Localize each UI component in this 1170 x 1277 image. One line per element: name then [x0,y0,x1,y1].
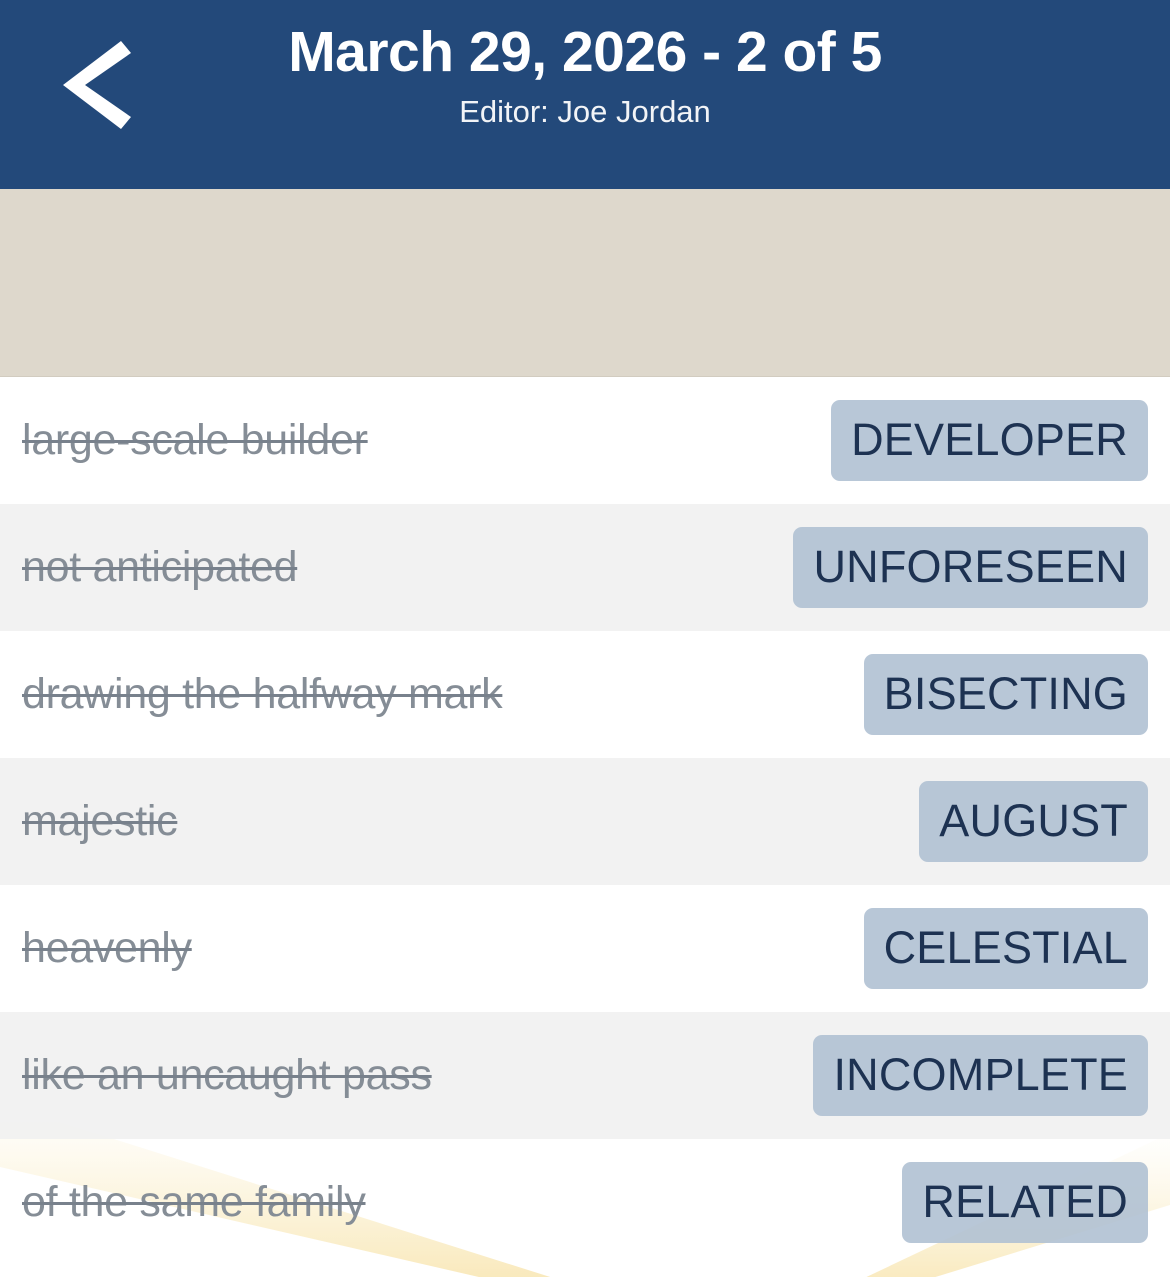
clue-row[interactable]: heavenly CELESTIAL [0,885,1170,1012]
clue-row[interactable]: majestic AUGUST [0,758,1170,885]
page-title: March 29, 2026 - 2 of 5 [288,22,882,84]
editor-byline: Editor: Joe Jordan [459,94,711,130]
app-root: March 29, 2026 - 2 of 5 Editor: Joe Jord… [0,0,1170,1277]
clue-text: majestic [22,797,177,846]
chevron-left-icon [59,37,131,133]
clue-row[interactable]: not anticipated UNFORESEEN [0,504,1170,631]
answer-chip[interactable]: UNFORESEEN [793,527,1148,608]
answer-chip[interactable]: BISECTING [864,654,1148,735]
clue-row[interactable]: of the same family RELATED [0,1139,1170,1266]
clue-row[interactable]: large-scale builder DEVELOPER [0,377,1170,504]
clue-text: not anticipated [22,543,297,592]
clue-text: drawing the halfway mark [22,670,502,719]
back-button[interactable] [40,30,150,140]
answer-chip[interactable]: CELESTIAL [864,908,1148,989]
clue-text: of the same family [22,1178,366,1227]
ad-banner[interactable] [0,189,1170,377]
answer-chip[interactable]: INCOMPLETE [813,1035,1148,1116]
clue-text: heavenly [22,924,192,973]
clue-row[interactable]: drawing the halfway mark BISECTING [0,631,1170,758]
answer-chip[interactable]: DEVELOPER [831,400,1148,481]
clue-text: like an uncaught pass [22,1051,432,1100]
clue-text: large-scale builder [22,416,368,465]
app-header: March 29, 2026 - 2 of 5 Editor: Joe Jord… [0,0,1170,189]
answer-chip[interactable]: RELATED [902,1162,1148,1243]
answer-chip[interactable]: AUGUST [919,781,1148,862]
clue-list: large-scale builder DEVELOPER not antici… [0,377,1170,1277]
clue-row[interactable]: like an uncaught pass INCOMPLETE [0,1012,1170,1139]
